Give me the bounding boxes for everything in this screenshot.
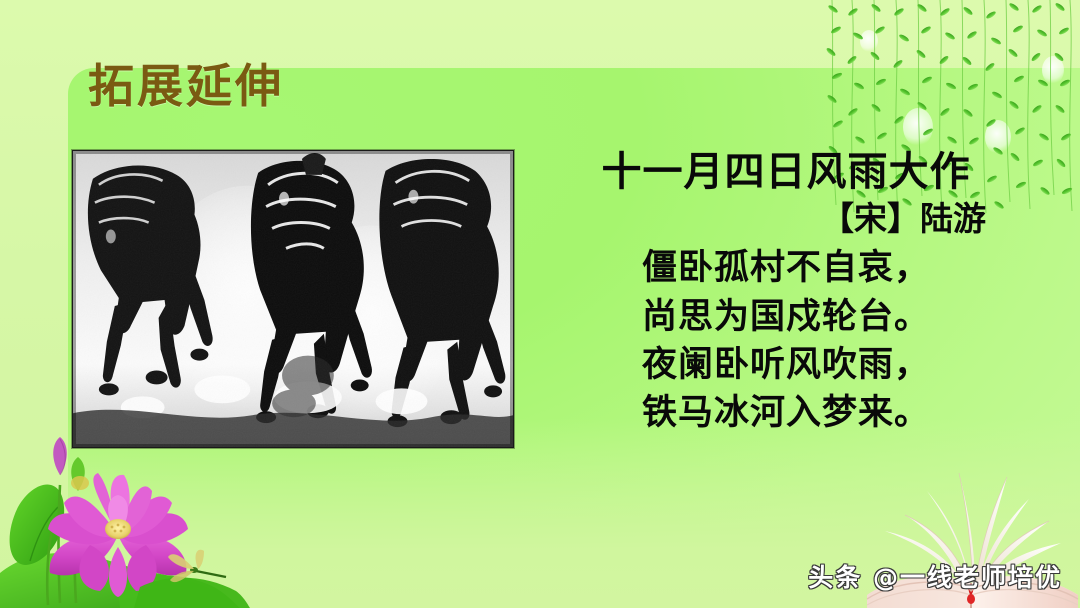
poem-body: 僵卧孤村不自哀， 尚思为国戍轮台。 夜阑卧听风吹雨， 铁马冰河入梦来。 <box>560 244 1012 437</box>
poem-title: 十一月四日风雨大作 <box>560 150 1012 195</box>
horses-photo <box>72 150 514 448</box>
section-title: 拓展延伸 <box>88 50 284 116</box>
poem-line: 铁马冰河入梦来。 <box>560 389 1012 437</box>
poem-block: 十一月四日风雨大作 【宋】陆游 僵卧孤村不自哀， 尚思为国戍轮台。 夜阑卧听风吹… <box>560 150 1012 438</box>
poem-author: 【宋】陆游 <box>560 199 1012 239</box>
poem-line: 尚思为国戍轮台。 <box>560 293 1012 341</box>
watermark: 头条 @一线老师培优 <box>808 558 1062 594</box>
poem-line: 夜阑卧听风吹雨， <box>560 341 1012 389</box>
poem-line: 僵卧孤村不自哀， <box>560 244 1012 292</box>
slide-canvas: 拓展延伸 <box>0 0 1080 608</box>
bokeh-light-icon <box>860 30 878 52</box>
